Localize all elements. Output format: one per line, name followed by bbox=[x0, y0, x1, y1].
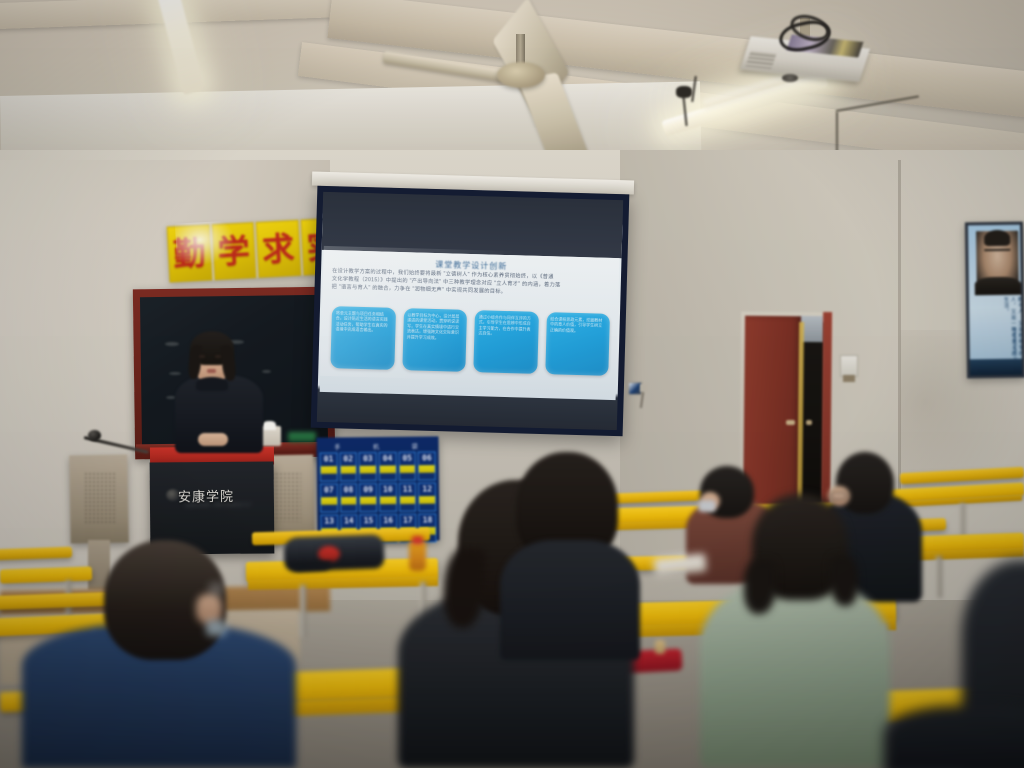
face-mask-icon bbox=[698, 500, 716, 512]
fan-downrod bbox=[516, 34, 525, 64]
poster-signature: 安康学院教师发展中心 bbox=[1012, 327, 1017, 359]
pocket-number: 04 bbox=[380, 454, 396, 463]
pocket-number: 14 bbox=[341, 516, 357, 525]
slide-box-1: 将单元主题与项目任务相结合，设计贴近生活的语言实践活动任务，帮助学生在真实的语境… bbox=[330, 306, 395, 370]
bottle-cap bbox=[412, 536, 423, 544]
desk-leg bbox=[960, 503, 965, 537]
pocket-header-char-2: 机 bbox=[373, 441, 382, 450]
wall-portrait-poster: 教书人，又是教和学的人，又是一种有意义的生活。 安康学院教师发展中心 bbox=[965, 222, 1024, 379]
pocket-number: 15 bbox=[361, 516, 377, 525]
student-rear-center-body bbox=[500, 540, 640, 660]
backpack-red-item bbox=[318, 546, 340, 562]
pocket-cell[interactable]: 11 bbox=[399, 483, 417, 512]
chalk-smudge bbox=[165, 342, 179, 346]
chalk-smudge bbox=[262, 370, 271, 373]
pocket-number: 02 bbox=[340, 454, 356, 463]
light-switch[interactable] bbox=[840, 355, 858, 377]
pocket-number: 18 bbox=[420, 515, 436, 524]
projection-screen: 课堂教学设计创新 在设计教学方案的过程中，我们始终要将最新 "立德树人" 作为核… bbox=[317, 192, 623, 430]
portrait-hair bbox=[984, 230, 1010, 246]
pocket-cell[interactable]: 08 bbox=[340, 483, 358, 512]
pocket-header-char-1: 手 bbox=[334, 442, 343, 451]
desk-leg bbox=[936, 556, 942, 598]
pocket-number: 03 bbox=[360, 454, 376, 463]
amber-bottle bbox=[409, 541, 426, 571]
speaker-grille-right bbox=[271, 472, 301, 522]
banner-char-1: 勤 bbox=[167, 224, 212, 282]
slide-box-2: 以教学目标为中心，设计层层递进的课堂活动，贯穿听说读写，学生在真实情境中进行交流… bbox=[402, 308, 467, 372]
pocket-cell[interactable]: 10 bbox=[379, 483, 397, 512]
pocket-number: 05 bbox=[399, 454, 415, 463]
face-mask-icon bbox=[206, 620, 226, 636]
green-desk-item bbox=[288, 432, 316, 442]
pocket-number: 13 bbox=[321, 516, 337, 525]
pocket-row: 07 08 09 10 11 12 bbox=[320, 482, 436, 512]
pocket-number: 01 bbox=[321, 454, 337, 463]
microphone-icon bbox=[88, 430, 101, 441]
projector-vent bbox=[746, 51, 777, 69]
pocket-number: 06 bbox=[419, 453, 435, 462]
foreground-shadow-right bbox=[884, 706, 1024, 768]
pocket-cell[interactable]: 02 bbox=[339, 452, 357, 481]
podium-logo-subtext: ANKANG UNIVERSITY bbox=[186, 502, 256, 508]
presentation-slide: 课堂教学设计创新 在设计教学方案的过程中，我们始终要将最新 "立德树人" 作为核… bbox=[320, 250, 620, 400]
pocket-number: 08 bbox=[341, 485, 357, 494]
presenter-eye-left bbox=[199, 355, 205, 358]
pocket-number: 16 bbox=[380, 516, 396, 525]
wall-socket[interactable] bbox=[843, 375, 855, 382]
pocket-number: 09 bbox=[360, 485, 376, 494]
phone-pocket-board: 手 机 袋 01 02 03 04 05 06 07 08 09 10 11 1… bbox=[316, 436, 439, 541]
slide-box-row: 将单元主题与项目任务相结合，设计贴近生活的语言实践活动任务，帮助学生在真实的语境… bbox=[330, 306, 610, 376]
glasses-temple-icon bbox=[208, 582, 224, 596]
desk-small-item bbox=[655, 640, 665, 654]
classroom-photo: 勤 学 求 实 课堂教学设计创新 在设计教学方案的过程中，我们始终要将最新 "立… bbox=[0, 0, 1024, 768]
student-right-head bbox=[836, 452, 894, 514]
pocket-number: 12 bbox=[419, 484, 435, 493]
speaker-grille-left bbox=[84, 472, 116, 524]
pocket-cell[interactable]: 04 bbox=[379, 452, 397, 481]
pocket-number: 10 bbox=[380, 485, 396, 494]
wall-plate-secondary bbox=[640, 384, 647, 392]
banner-char-3: 求 bbox=[256, 220, 301, 278]
wire-clamp bbox=[676, 86, 692, 98]
student-green-body bbox=[700, 576, 890, 768]
poster-footer-bar bbox=[970, 359, 1022, 376]
projector-lens bbox=[782, 74, 798, 82]
slide-box-3-text: 通过小组合作与同伴互评的方式，引导学生在思辨中形成自主学习能力，在合作中提升表达… bbox=[478, 314, 534, 337]
presenter-mouth bbox=[207, 369, 216, 373]
pocket-number: 11 bbox=[400, 485, 416, 494]
slide-box-4-text: 结合课程思政元素，挖掘教材中的育人价值，引导学生树立正确的价值观。 bbox=[550, 316, 606, 334]
student-green-hair-left bbox=[744, 560, 776, 614]
chalk-smudge bbox=[169, 372, 181, 375]
tissue-sheet bbox=[263, 421, 276, 430]
portrait-suit bbox=[975, 277, 1021, 296]
pocket-cell[interactable]: 09 bbox=[359, 483, 377, 512]
slide-box-4: 结合课程思政元素，挖掘教材中的育人价值，引导学生树立正确的价值观。 bbox=[545, 312, 610, 376]
pocket-row: 01 02 03 04 05 06 bbox=[320, 451, 436, 481]
presenter-eye-right bbox=[215, 355, 221, 358]
door-handle-inner[interactable] bbox=[806, 420, 812, 425]
pocket-cell[interactable]: 05 bbox=[398, 452, 416, 481]
ceiling-fan-icon bbox=[497, 62, 545, 88]
screen-letterbox-top bbox=[322, 192, 624, 258]
banner-char-2: 学 bbox=[211, 222, 256, 280]
pocket-number: 17 bbox=[400, 516, 416, 525]
student-green-hair-right bbox=[830, 556, 858, 606]
pocket-header-char-3: 袋 bbox=[412, 441, 421, 450]
pocket-cell[interactable]: 12 bbox=[418, 482, 436, 511]
slide-box-3: 通过小组合作与同伴互评的方式，引导学生在思辨中形成自主学习能力，在合作中提升表达… bbox=[473, 310, 538, 374]
pocket-number: 07 bbox=[321, 485, 337, 494]
slide-box-1-text: 将单元主题与项目任务相结合，设计贴近生活的语言实践活动任务，帮助学生在真实的语境… bbox=[335, 310, 391, 333]
desk-leg bbox=[300, 585, 306, 637]
presenter-hands bbox=[198, 433, 228, 446]
door-handle[interactable] bbox=[786, 420, 795, 425]
pocket-cell[interactable]: 03 bbox=[359, 452, 377, 481]
glasses-icon bbox=[830, 492, 847, 500]
presenter-collar bbox=[196, 377, 228, 391]
pocket-cell[interactable]: 06 bbox=[418, 451, 436, 480]
pocket-cell[interactable]: 01 bbox=[320, 452, 338, 481]
pocket-cell[interactable]: 07 bbox=[320, 483, 338, 512]
slide-box-2-text: 以教学目标为中心，设计层层递进的课堂活动，贯穿听说读写，学生在真实情境中进行交流… bbox=[407, 312, 463, 341]
glasses-icon bbox=[984, 249, 1010, 257]
